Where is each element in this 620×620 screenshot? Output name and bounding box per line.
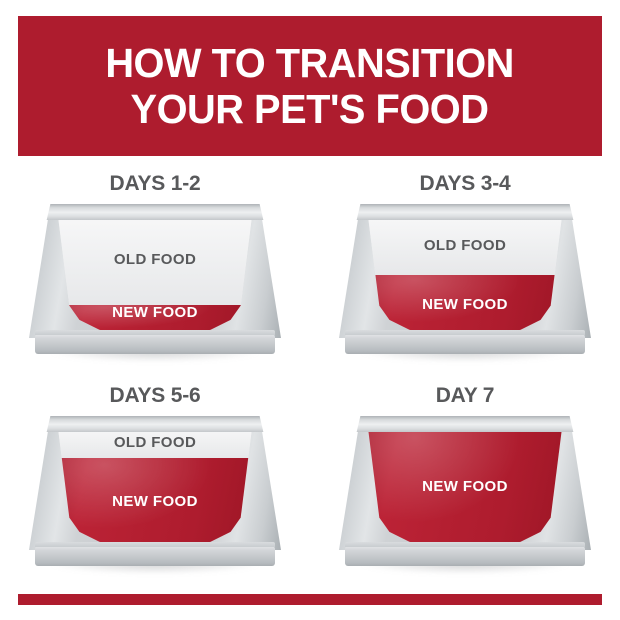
bowl-base-3	[35, 546, 275, 566]
step-title-1: DAYS 1-2	[0, 172, 310, 196]
food-bowl-3: OLD FOOD NEW FOOD	[29, 416, 281, 576]
old-food-portion-2	[339, 216, 591, 275]
bowl-rim-4	[339, 416, 591, 432]
bowl-base-2	[345, 334, 585, 354]
step-title-2: DAYS 3-4	[310, 172, 620, 196]
bowl-base-4	[345, 546, 585, 566]
transition-step-3: DAYS 5-6 OLD FOOD NEW FOOD	[0, 380, 310, 586]
transition-steps-grid: DAYS 1-2 OLD FOOD NEW FOOD DAYS 3-4 OLD …	[0, 168, 620, 580]
transition-step-4: DAY 7 NEW FOOD	[310, 380, 620, 586]
bowl-rim-1	[29, 204, 281, 220]
step-title-4: DAY 7	[310, 384, 620, 408]
bowl-rim-3	[29, 416, 281, 432]
page-title-line-2: YOUR PET'S FOOD	[131, 86, 489, 132]
bowl-rim-2	[339, 204, 591, 220]
food-bowl-4: NEW FOOD	[339, 416, 591, 576]
transition-step-2: DAYS 3-4 OLD FOOD NEW FOOD	[310, 168, 620, 374]
step-title-3: DAYS 5-6	[0, 384, 310, 408]
header-banner: HOW TO TRANSITION YOUR PET'S FOOD	[18, 16, 602, 156]
food-bowl-2: OLD FOOD NEW FOOD	[339, 204, 591, 364]
old-food-portion-3	[29, 428, 281, 458]
page-title-line-1: HOW TO TRANSITION	[106, 40, 515, 86]
footer-accent-bar	[18, 594, 602, 605]
bowl-base-1	[35, 334, 275, 354]
food-bowl-1: OLD FOOD NEW FOOD	[29, 204, 281, 364]
transition-step-1: DAYS 1-2 OLD FOOD NEW FOOD	[0, 168, 310, 374]
